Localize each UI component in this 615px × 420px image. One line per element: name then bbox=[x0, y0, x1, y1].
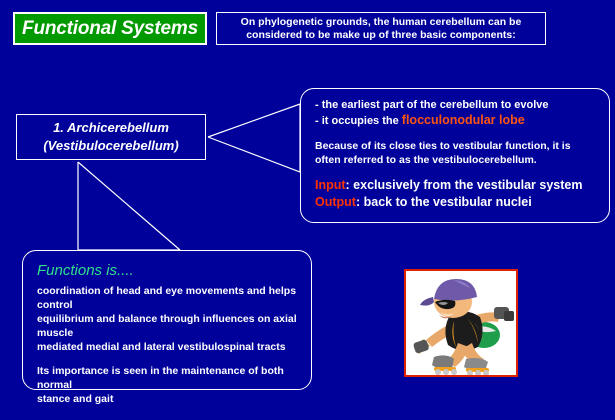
intro-line-2: considered to be make up of three basic … bbox=[246, 29, 516, 41]
spacer-3 bbox=[37, 354, 301, 364]
intro-statement-box: On phylogenetic grounds, the human cereb… bbox=[216, 12, 546, 45]
component-alt-name: (Vestibulocerebellum) bbox=[43, 137, 178, 155]
component-box-archicerebellum: 1. Archicerebellum (Vestibulocerebellum) bbox=[16, 114, 206, 160]
component-name: 1. Archicerebellum bbox=[53, 119, 169, 137]
output-line: Output: back to the vestibular nuclei bbox=[315, 194, 597, 211]
functions-callout: Functions is.... coordination of head an… bbox=[22, 250, 312, 390]
spacer-1 bbox=[315, 129, 597, 139]
intro-statement-text: On phylogenetic grounds, the human cereb… bbox=[241, 16, 522, 42]
detail-paragraph-line-1: Because of its close ties to vestibular … bbox=[315, 140, 571, 152]
functions-heading: Functions is.... bbox=[37, 261, 301, 281]
input-line: Input: exclusively from the vestibular s… bbox=[315, 177, 597, 194]
detail-bullet-2-prefix: - it occupies the bbox=[315, 115, 402, 127]
detail-paragraph-line-2: often referred to as the vestibulocerebe… bbox=[315, 154, 537, 166]
functions-p1-line-2: equilibrium and balance through influenc… bbox=[37, 313, 297, 339]
detail-bullet-2: - it occupies the flocculonodular lobe bbox=[315, 113, 597, 129]
functions-paragraph-2: Its importance is seen in the maintenanc… bbox=[37, 364, 301, 406]
page-title: Functional Systems bbox=[22, 18, 198, 40]
output-label: Output bbox=[315, 195, 356, 209]
flocculonodular-lobe-highlight: flocculonodular lobe bbox=[402, 113, 525, 127]
input-text: : exclusively from the vestibular system bbox=[346, 178, 583, 192]
slide-title-box: Functional Systems bbox=[13, 12, 207, 45]
functions-p1-line-1: coordination of head and eye movements a… bbox=[37, 285, 296, 311]
slide-canvas: Functional Systems On phylogenetic groun… bbox=[0, 0, 615, 420]
input-label: Input bbox=[315, 178, 346, 192]
spacer-2 bbox=[315, 167, 597, 177]
functions-p2-line-1: Its importance is seen in the maintenanc… bbox=[37, 365, 284, 391]
functions-p1-line-3: mediated medial and lateral vestibulospi… bbox=[37, 341, 286, 353]
detail-callout: - the earliest part of the cerebellum to… bbox=[300, 88, 610, 223]
inline-skater-image bbox=[404, 269, 518, 377]
output-text: : back to the vestibular nuclei bbox=[356, 195, 532, 209]
functions-paragraph-1: coordination of head and eye movements a… bbox=[37, 284, 301, 354]
inline-skater-icon bbox=[406, 271, 516, 375]
intro-line-1: On phylogenetic grounds, the human cereb… bbox=[241, 16, 522, 28]
detail-bullet-1: - the earliest part of the cerebellum to… bbox=[315, 98, 597, 113]
detail-paragraph: Because of its close ties to vestibular … bbox=[315, 139, 597, 167]
functions-p2-line-2: stance and gait bbox=[37, 393, 113, 405]
